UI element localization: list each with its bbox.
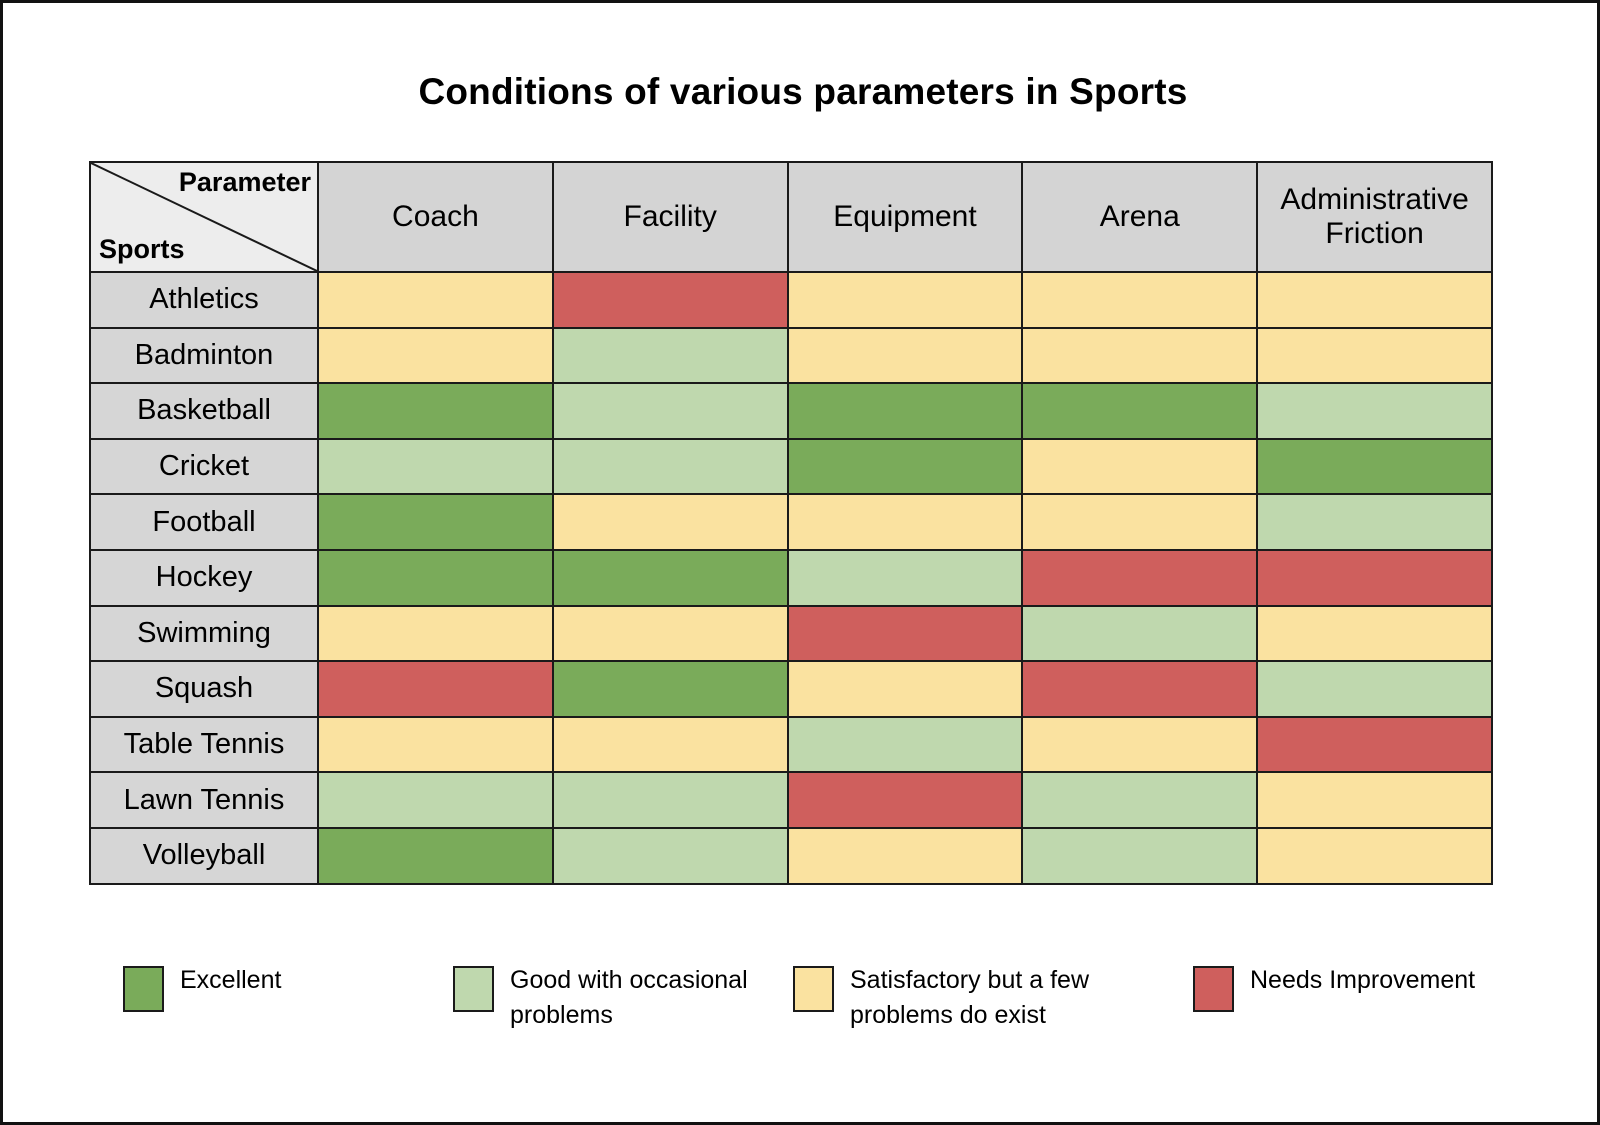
heatmap-cell <box>788 828 1023 884</box>
heatmap-cell <box>553 494 788 550</box>
heatmap-cell <box>1022 494 1257 550</box>
table-row: Football <box>90 494 1492 550</box>
heatmap-cell <box>1257 383 1492 439</box>
row-header-squash: Squash <box>90 661 318 717</box>
heatmap-cell <box>1257 494 1492 550</box>
table-head: Parameter Sports Coach Facility Equipmen… <box>90 162 1492 272</box>
heatmap-cell <box>318 717 553 773</box>
heatmap-cell <box>788 383 1023 439</box>
conditions-heatmap-table: Parameter Sports Coach Facility Equipmen… <box>89 161 1493 885</box>
table-row: Swimming <box>90 606 1492 662</box>
legend-swatch-excellent <box>123 966 164 1012</box>
heatmap-cell <box>1257 550 1492 606</box>
heatmap-cell <box>1022 661 1257 717</box>
heatmap-cell <box>1257 272 1492 328</box>
heatmap-cell <box>1022 439 1257 495</box>
heatmap-cell <box>788 272 1023 328</box>
heatmap-cell <box>788 606 1023 662</box>
legend-item-satisfactory[interactable]: Satisfactory but a few problems do exist <box>793 963 1193 1032</box>
row-header-cricket: Cricket <box>90 439 318 495</box>
heatmap-cell <box>1257 717 1492 773</box>
heatmap-cell <box>788 717 1023 773</box>
column-header-arena: Arena <box>1022 162 1257 272</box>
heatmap-cell <box>1022 606 1257 662</box>
heatmap-cell <box>553 328 788 384</box>
heatmap-cell <box>553 828 788 884</box>
heatmap-cell <box>553 272 788 328</box>
legend-label-satisfactory: Satisfactory but a few problems do exist <box>850 963 1120 1032</box>
heatmap-cell <box>788 661 1023 717</box>
heatmap-cell <box>318 828 553 884</box>
column-header-coach: Coach <box>318 162 553 272</box>
heatmap-cell <box>553 606 788 662</box>
table-row: Volleyball <box>90 828 1492 884</box>
heatmap-cell <box>788 772 1023 828</box>
heatmap-cell <box>788 550 1023 606</box>
row-header-volleyball: Volleyball <box>90 828 318 884</box>
row-header-hockey: Hockey <box>90 550 318 606</box>
heatmap-cell <box>318 383 553 439</box>
heatmap-cell <box>1257 828 1492 884</box>
heatmap-cell <box>318 272 553 328</box>
heatmap-cell <box>553 439 788 495</box>
heatmap-cell <box>553 772 788 828</box>
legend-item-excellent[interactable]: Excellent <box>123 963 453 1012</box>
legend-swatch-needs <box>1193 966 1234 1012</box>
table-row: Table Tennis <box>90 717 1492 773</box>
row-header-basketball: Basketball <box>90 383 318 439</box>
heatmap-cell <box>1257 772 1492 828</box>
column-header-administrative-friction: Administrative Friction <box>1257 162 1492 272</box>
table-body: AthleticsBadmintonBasketballCricketFootb… <box>90 272 1492 884</box>
heatmap-cell <box>318 606 553 662</box>
heatmap-cell <box>1022 550 1257 606</box>
heatmap-cell <box>318 328 553 384</box>
heatmap-cell <box>1257 439 1492 495</box>
row-axis-label: Sports <box>99 234 185 265</box>
row-header-football: Football <box>90 494 318 550</box>
heatmap-cell <box>318 494 553 550</box>
heatmap-cell <box>1257 661 1492 717</box>
legend-item-needs[interactable]: Needs Improvement <box>1193 963 1513 1012</box>
heatmap-cell <box>1257 328 1492 384</box>
heatmap-cell <box>1022 772 1257 828</box>
heatmap-cell <box>1022 272 1257 328</box>
heatmap-cell <box>1022 828 1257 884</box>
table-row: Hockey <box>90 550 1492 606</box>
table-row: Badminton <box>90 328 1492 384</box>
heatmap-cell <box>788 328 1023 384</box>
row-header-badminton: Badminton <box>90 328 318 384</box>
legend-swatch-good <box>453 966 494 1012</box>
heatmap-cell <box>1022 328 1257 384</box>
table-row: Cricket <box>90 439 1492 495</box>
heatmap-cell <box>553 383 788 439</box>
row-header-athletics: Athletics <box>90 272 318 328</box>
table-row: Athletics <box>90 272 1492 328</box>
table-row: Squash <box>90 661 1492 717</box>
column-header-facility: Facility <box>553 162 788 272</box>
heatmap-cell <box>1022 717 1257 773</box>
header-row: Parameter Sports Coach Facility Equipmen… <box>90 162 1492 272</box>
table-row: Lawn Tennis <box>90 772 1492 828</box>
table-row: Basketball <box>90 383 1492 439</box>
corner-axis-cell: Parameter Sports <box>90 162 318 272</box>
row-header-swimming: Swimming <box>90 606 318 662</box>
heatmap-cell <box>553 550 788 606</box>
heatmap-cell <box>788 439 1023 495</box>
column-axis-label: Parameter <box>179 167 311 198</box>
heatmap-cell <box>1022 383 1257 439</box>
heatmap-cell <box>318 772 553 828</box>
chart-page: Conditions of various parameters in Spor… <box>0 0 1600 1125</box>
legend-item-good[interactable]: Good with occasional problems <box>453 963 793 1032</box>
legend-label-excellent: Excellent <box>180 963 281 998</box>
heatmap-cell <box>1257 606 1492 662</box>
row-header-lawn-tennis: Lawn Tennis <box>90 772 318 828</box>
heatmap-cell <box>553 661 788 717</box>
heatmap-cell <box>318 550 553 606</box>
heatmap-cell <box>788 494 1023 550</box>
heatmap-cell <box>318 661 553 717</box>
page-title: Conditions of various parameters in Spor… <box>3 71 1600 113</box>
legend: ExcellentGood with occasional problemsSa… <box>123 963 1523 1032</box>
row-header-table-tennis: Table Tennis <box>90 717 318 773</box>
heatmap-cell <box>553 717 788 773</box>
column-header-equipment: Equipment <box>788 162 1023 272</box>
legend-label-good: Good with occasional problems <box>510 963 780 1032</box>
heatmap-cell <box>318 439 553 495</box>
legend-swatch-satisfactory <box>793 966 834 1012</box>
legend-label-needs: Needs Improvement <box>1250 963 1475 998</box>
